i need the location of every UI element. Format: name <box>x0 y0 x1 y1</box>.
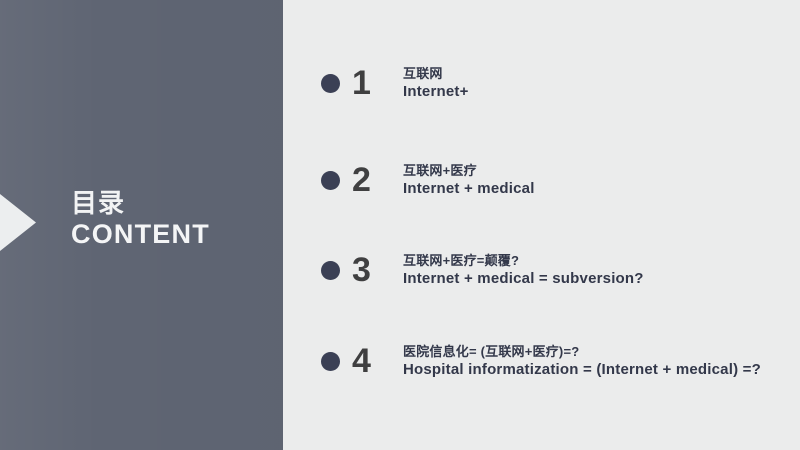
slide-canvas: 目录 CONTENT 1 互联网 Internet+ 2 互联网+医疗 Inte… <box>0 0 800 450</box>
list-item-label-en: Internet + medical <box>403 179 535 198</box>
page-title-cn: 目录 <box>71 188 210 218</box>
triangle-right-icon <box>0 194 36 251</box>
list-item-text: 互联网+医疗 Internet + medical <box>403 162 535 198</box>
bullet-dot-icon <box>321 261 340 280</box>
list-item-label-cn: 互联网+医疗 <box>403 162 535 179</box>
list-item-number: 3 <box>352 253 382 287</box>
list-item-label-cn: 互联网 <box>403 65 469 82</box>
page-title-en: CONTENT <box>71 218 210 250</box>
list-item-text: 互联网+医疗=颠覆? Internet + medical = subversi… <box>403 252 644 288</box>
list-item[interactable]: 4 医院信息化= (互联网+医疗)=? Hospital informatiza… <box>321 338 761 384</box>
bullet-dot-icon <box>321 74 340 93</box>
list-item[interactable]: 1 互联网 Internet+ <box>321 60 469 106</box>
list-item-label-cn: 医院信息化= (互联网+医疗)=? <box>403 343 761 360</box>
page-title: 目录 CONTENT <box>71 188 210 250</box>
list-item-label-en: Internet + medical = subversion? <box>403 269 644 288</box>
list-item-text: 互联网 Internet+ <box>403 65 469 101</box>
list-item-number: 2 <box>352 163 382 197</box>
bullet-dot-icon <box>321 352 340 371</box>
list-item-label-en: Internet+ <box>403 82 469 101</box>
list-item-number: 4 <box>352 344 382 378</box>
bullet-dot-icon <box>321 171 340 190</box>
list-item-text: 医院信息化= (互联网+医疗)=? Hospital informatizati… <box>403 343 761 379</box>
toc-panel: 1 互联网 Internet+ 2 互联网+医疗 Internet + medi… <box>283 0 800 450</box>
list-item-label-cn: 互联网+医疗=颠覆? <box>403 252 644 269</box>
list-item[interactable]: 3 互联网+医疗=颠覆? Internet + medical = subver… <box>321 247 644 293</box>
toc-list: 1 互联网 Internet+ 2 互联网+医疗 Internet + medi… <box>283 0 800 450</box>
list-item-number: 1 <box>352 66 382 100</box>
list-item-label-en: Hospital informatization = (Internet + m… <box>403 360 761 379</box>
list-item[interactable]: 2 互联网+医疗 Internet + medical <box>321 157 535 203</box>
